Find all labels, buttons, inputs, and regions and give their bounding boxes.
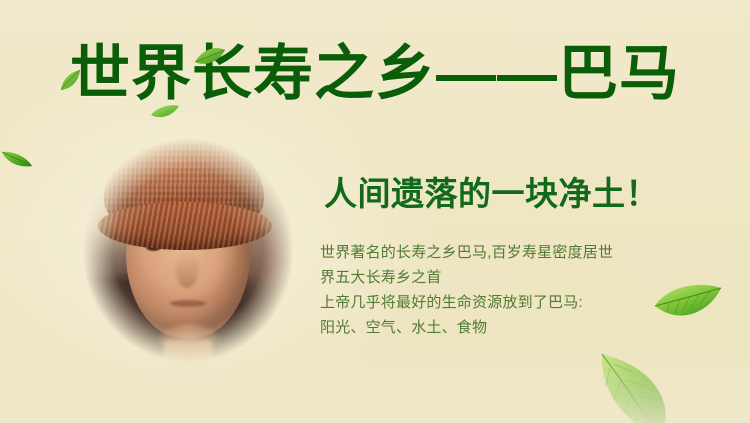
elderly-woman-portrait: [58, 128, 308, 383]
leaf-small-top-left-b-icon: [193, 46, 227, 68]
portrait-hat-brim-texture: [98, 202, 272, 250]
leaf-large-bottom-right-icon: [598, 352, 716, 423]
portrait-hat-brim: [98, 202, 272, 250]
poster-canvas: 世界长寿之乡——巴马 人间遗落的一块净土！ 世界著名的长寿之乡巴马,百岁寿星密度…: [0, 0, 750, 423]
portrait-nose: [176, 252, 198, 288]
body-line: 世界著名的长寿之乡巴马,百岁寿星密度居世: [320, 240, 720, 265]
portrait-mouth: [170, 300, 206, 307]
page-subtitle: 人间遗落的一块净土！: [324, 176, 659, 212]
portrait-chin: [158, 324, 220, 358]
leaf-small-left-mid-icon: [2, 148, 34, 170]
page-title: 世界长寿之乡——巴马: [0, 44, 750, 104]
leaf-small-under-title-icon: [150, 104, 180, 120]
leaf-small-top-left-a-icon: [58, 68, 84, 94]
leaf-large-right-mid-icon: [652, 282, 724, 330]
portrait-wrinkles: [200, 320, 316, 390]
